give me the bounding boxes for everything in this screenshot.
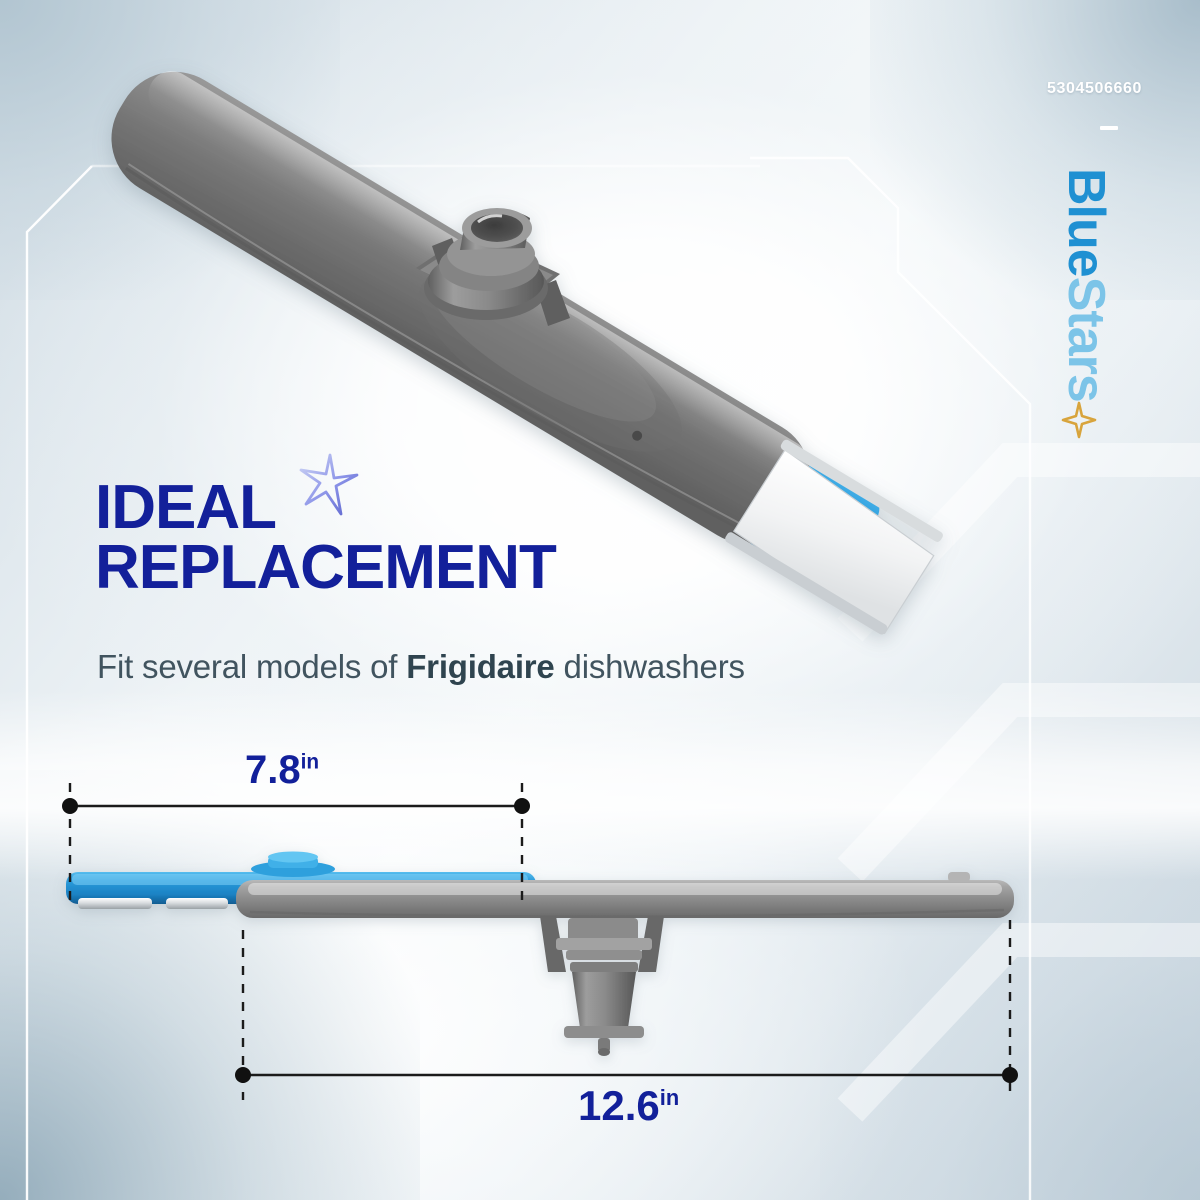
brand-logo-text: BlueStars — [1058, 168, 1114, 548]
dimension-width-unit: in — [301, 751, 319, 774]
star-decoration-icon — [296, 452, 360, 518]
brand-star-icon — [1059, 400, 1099, 440]
spray-arm-hub-side — [540, 916, 664, 1056]
headline-line-1: IDEAL — [95, 473, 276, 542]
dimension-length-value: 12.6 — [578, 1082, 660, 1129]
brand-name-secondary: Stars — [1057, 277, 1115, 402]
dimension-length-unit: in — [660, 1085, 679, 1110]
product-listing-image: 7.8in 12.6in 5304506660 BlueStars IDEAL … — [0, 0, 1200, 1200]
subheadline-prefix: Fit several models of — [97, 648, 406, 685]
dimension-label-width: 7.8in — [245, 748, 319, 793]
part-number: 5304506660 — [1047, 80, 1142, 98]
dimension-width-value: 7.8 — [245, 748, 301, 792]
subheadline: Fit several models of Frigidaire dishwas… — [97, 648, 745, 686]
dimension-label-length: 12.6in — [578, 1082, 679, 1130]
part-number-divider — [1100, 126, 1118, 130]
subheadline-suffix: dishwashers — [555, 648, 745, 685]
subheadline-brand: Frigidaire — [406, 648, 554, 685]
headline-line-2: REPLACEMENT — [95, 538, 556, 598]
spray-arm-side-view — [66, 852, 1014, 1057]
brand-name-primary: Blue — [1057, 168, 1115, 277]
brand-logo: BlueStars — [1058, 168, 1114, 548]
